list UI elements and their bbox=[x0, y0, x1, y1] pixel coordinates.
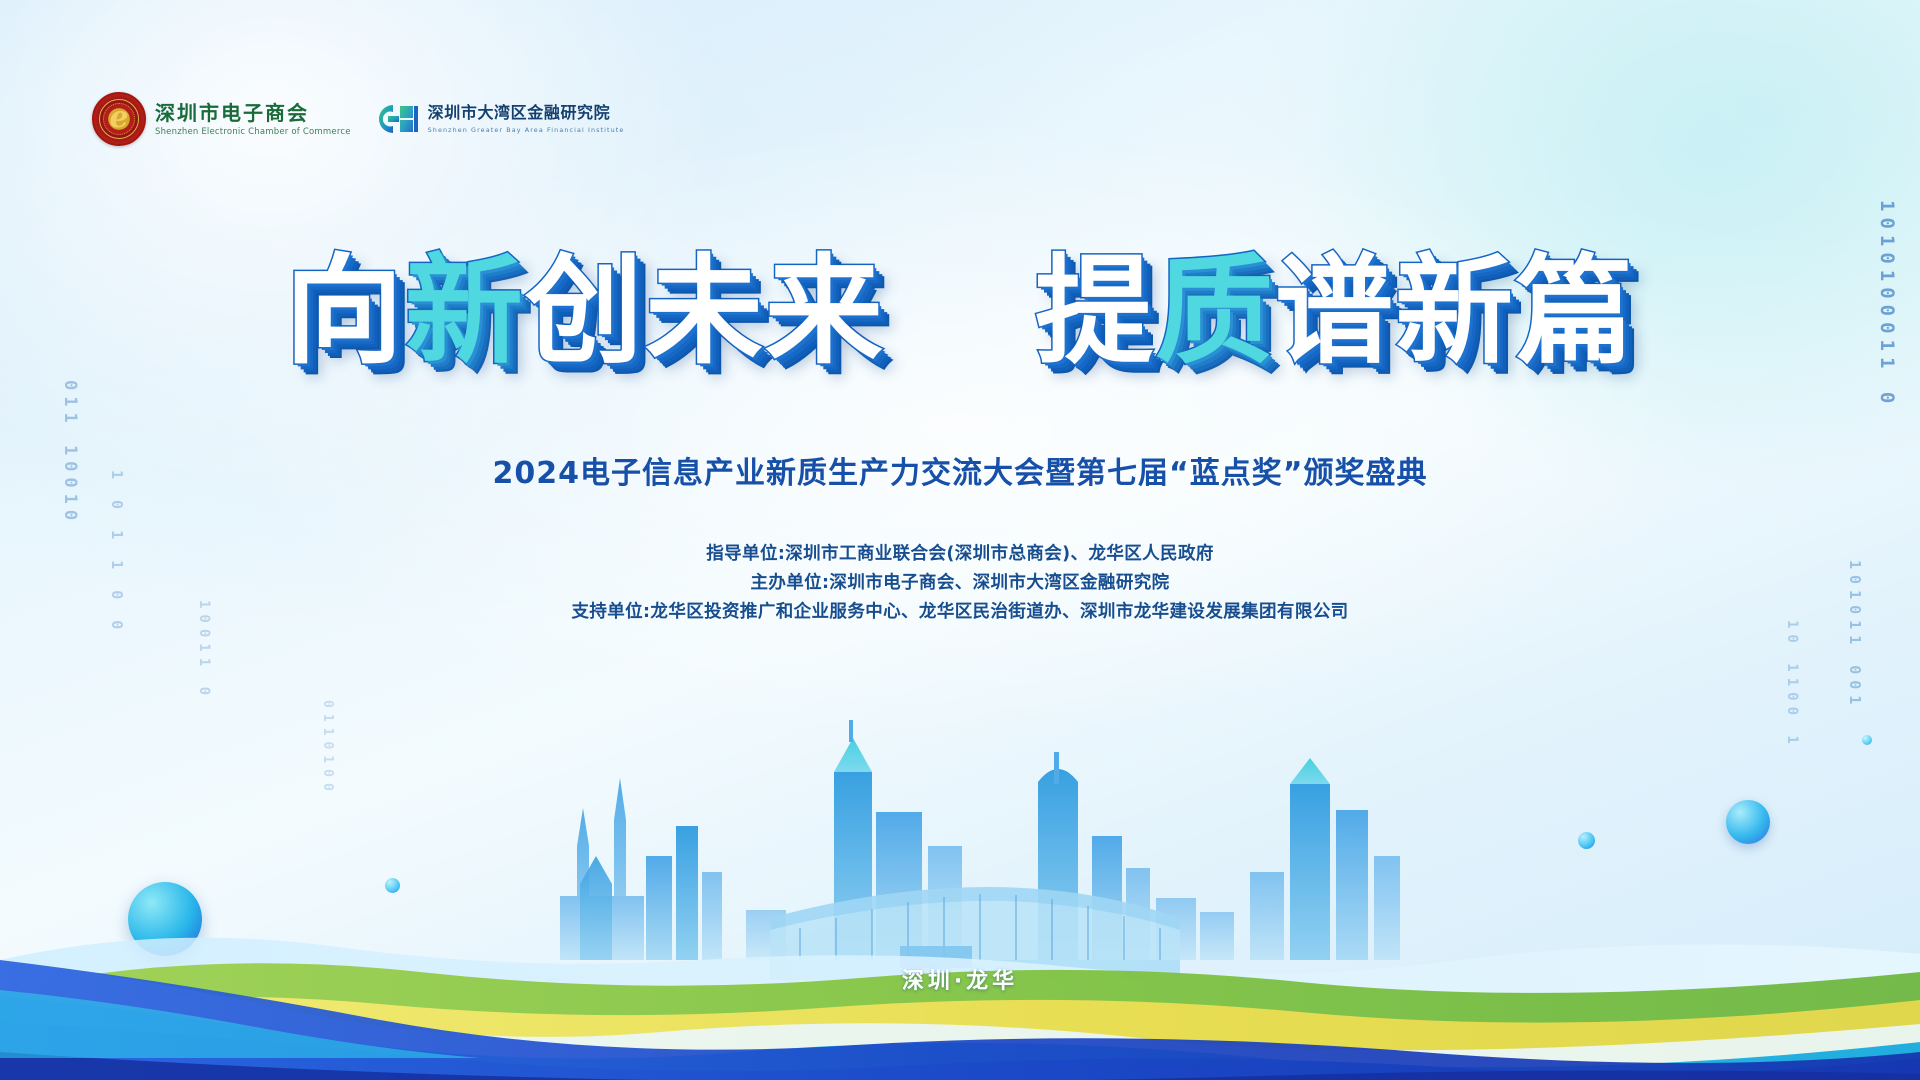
headline-char: 提 bbox=[1035, 252, 1155, 370]
gbi-name-en: Shenzhen Greater Bay Area Financial Inst… bbox=[428, 126, 625, 134]
headline: 向新创未来 提质谱新篇 bbox=[0, 252, 1920, 370]
city-scene: 深 圳 北 站 bbox=[0, 660, 1920, 1080]
chamber-name-en: Shenzhen Electronic Chamber of Commerce bbox=[155, 127, 351, 137]
organizer-line-host: 主办单位:深圳市电子商会、深圳市大湾区金融研究院 bbox=[0, 569, 1920, 598]
organizer-line-support: 支持单位:龙华区投资推广和企业服务中心、龙华区民治街道办、深圳市龙华建设发展集团… bbox=[0, 598, 1920, 627]
glow-center bbox=[210, 120, 1710, 740]
headline-char: 谱 bbox=[1275, 252, 1395, 370]
chamber-seal-icon: e bbox=[92, 92, 146, 146]
logo-shenzhen-electronic-chamber: e 深圳市电子商会 Shenzhen Electronic Chamber of… bbox=[92, 92, 351, 146]
logo-bar: e 深圳市电子商会 Shenzhen Electronic Chamber of… bbox=[92, 92, 624, 146]
organizer-line-guidance: 指导单位:深圳市工商业联合会(深圳市总商会)、龙华区人民政府 bbox=[0, 540, 1920, 569]
headline-part-2: 提质谱新篇 bbox=[1035, 242, 1635, 380]
logo-gba-financial-institute: 深圳市大湾区金融研究院 Shenzhen Greater Bay Area Fi… bbox=[373, 101, 625, 137]
gbi-monogram-icon bbox=[373, 101, 419, 137]
headline-part-1: 向新创未来 bbox=[285, 242, 928, 380]
headline-char: 向 bbox=[285, 252, 405, 370]
headline-char: 篇 bbox=[1515, 252, 1635, 370]
city-label: 深圳·龙华 bbox=[0, 963, 1920, 995]
headline-char: 创 bbox=[525, 252, 645, 370]
headline-char-highlight: 质 bbox=[1155, 252, 1275, 370]
event-subtitle: 2024电子信息产业新质生产力交流大会暨第七届“蓝点奖”颁奖盛典 bbox=[0, 448, 1920, 492]
poster-canvas: 1010100011 0 101011 001 10 1100 1 011 10… bbox=[0, 0, 1920, 1080]
headline-char-highlight: 新 bbox=[405, 252, 525, 370]
chamber-name-cn: 深圳市电子商会 bbox=[155, 102, 351, 125]
headline-char: 来 bbox=[765, 252, 885, 370]
organizer-block: 指导单位:深圳市工商业联合会(深圳市总商会)、龙华区人民政府 主办单位:深圳市电… bbox=[0, 540, 1920, 627]
gbi-name-cn: 深圳市大湾区金融研究院 bbox=[428, 104, 625, 122]
headline-char: 未 bbox=[645, 252, 765, 370]
headline-char: 新 bbox=[1395, 252, 1515, 370]
